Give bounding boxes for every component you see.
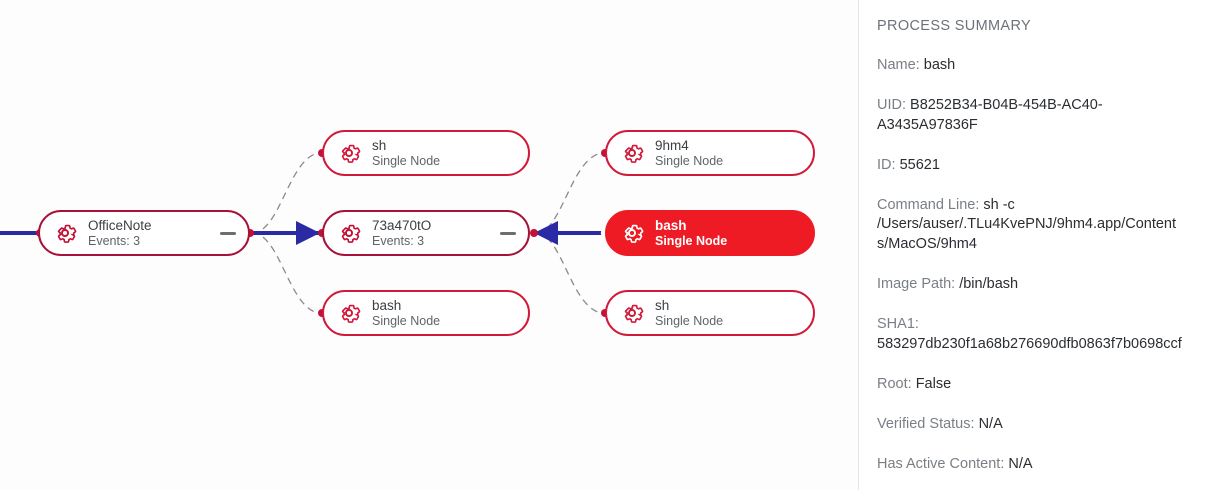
node-label-block: OfficeNote Events: 3 [88,218,152,249]
field-value: N/A [1008,456,1032,472]
field-label: Image Path: [877,276,955,292]
node-label-block: sh Single Node [372,138,440,169]
edge-73a470to-to-sh-bottom [536,233,601,313]
node-label-block: sh Single Node [655,298,723,329]
gear-icon [52,220,78,246]
node-label-block: bash Single Node [372,298,440,329]
node-subtitle: Single Node [655,314,723,329]
panel-title: PROCESS SUMMARY [877,18,1183,34]
edge-officenote-to-bash-bottom [252,233,318,313]
node-label-block: bash Single Node [655,218,727,249]
graph-node-bash-selected[interactable]: bash Single Node [605,210,815,256]
field-value: 55621 [900,157,940,173]
node-title: bash [655,218,727,234]
field-value: False [916,376,951,392]
node-title: sh [372,138,440,154]
field-value: 583297db230f1a68b276690dfb0863f7b0698ccf [877,336,1182,352]
field-value: B8252B34-B04B-454B-AC40-A3435A97836F [877,97,1103,132]
node-title: bash [372,298,440,314]
node-subtitle: Single Node [655,234,727,249]
field-label: Has Active Content: [877,456,1004,472]
field-value: /bin/bash [959,276,1018,292]
node-subtitle: Single Node [372,154,440,169]
gear-icon [336,140,362,166]
process-graph-app: OfficeNote Events: 3 sh Single Node 7 [0,0,1205,490]
edge-73a470to-to-9hm4 [536,153,601,233]
field-has-active-content: Has Active Content: N/A [877,455,1183,474]
field-label: UID: [877,97,906,113]
process-summary-panel: PROCESS SUMMARY Name: bash UID: B8252B34… [858,0,1205,490]
field-label: SHA1: [877,316,919,332]
node-subtitle: Events: 3 [88,234,152,249]
field-value: bash [924,57,955,73]
graph-node-73a470to[interactable]: 73a470tO Events: 3 [322,210,530,256]
node-subtitle: Single Node [372,314,440,329]
gear-icon [336,220,362,246]
node-title: 73a470tO [372,218,431,234]
field-verified-status: Verified Status: N/A [877,415,1183,434]
field-label: Name: [877,57,920,73]
node-subtitle: Events: 3 [372,234,431,249]
field-sha1: SHA1: 583297db230f1a68b276690dfb0863f7b0… [877,315,1183,354]
node-title: sh [655,298,723,314]
field-uid: UID: B8252B34-B04B-454B-AC40-A3435A97836… [877,96,1183,135]
gear-icon [619,220,645,246]
node-label-block: 73a470tO Events: 3 [372,218,431,249]
field-label: ID: [877,157,896,173]
field-image-path: Image Path: /bin/bash [877,275,1183,294]
node-subtitle: Single Node [655,154,723,169]
field-command-line: Command Line: sh -c /Users/auser/.TLu4Kv… [877,196,1183,254]
field-label: Command Line: [877,197,979,213]
node-label-block: 9hm4 Single Node [655,138,723,169]
graph-node-sh-bottom[interactable]: sh Single Node [605,290,815,336]
edge-officenote-to-sh-top [252,153,318,233]
graph-node-9hm4[interactable]: 9hm4 Single Node [605,130,815,176]
gear-icon [619,300,645,326]
field-label: Root: [877,376,912,392]
node-title: OfficeNote [88,218,152,234]
gear-icon [619,140,645,166]
collapse-toggle-icon[interactable] [220,232,236,235]
graph-node-officenote[interactable]: OfficeNote Events: 3 [38,210,250,256]
graph-node-sh-top[interactable]: sh Single Node [322,130,530,176]
collapse-toggle-icon[interactable] [500,232,516,235]
gear-icon [336,300,362,326]
process-graph-canvas[interactable]: OfficeNote Events: 3 sh Single Node 7 [0,0,858,490]
field-id: ID: 55621 [877,156,1183,175]
field-root: Root: False [877,375,1183,394]
field-label: Verified Status: [877,416,975,432]
field-value: N/A [979,416,1003,432]
field-name: Name: bash [877,56,1183,75]
graph-node-bash-bottom[interactable]: bash Single Node [322,290,530,336]
node-title: 9hm4 [655,138,723,154]
